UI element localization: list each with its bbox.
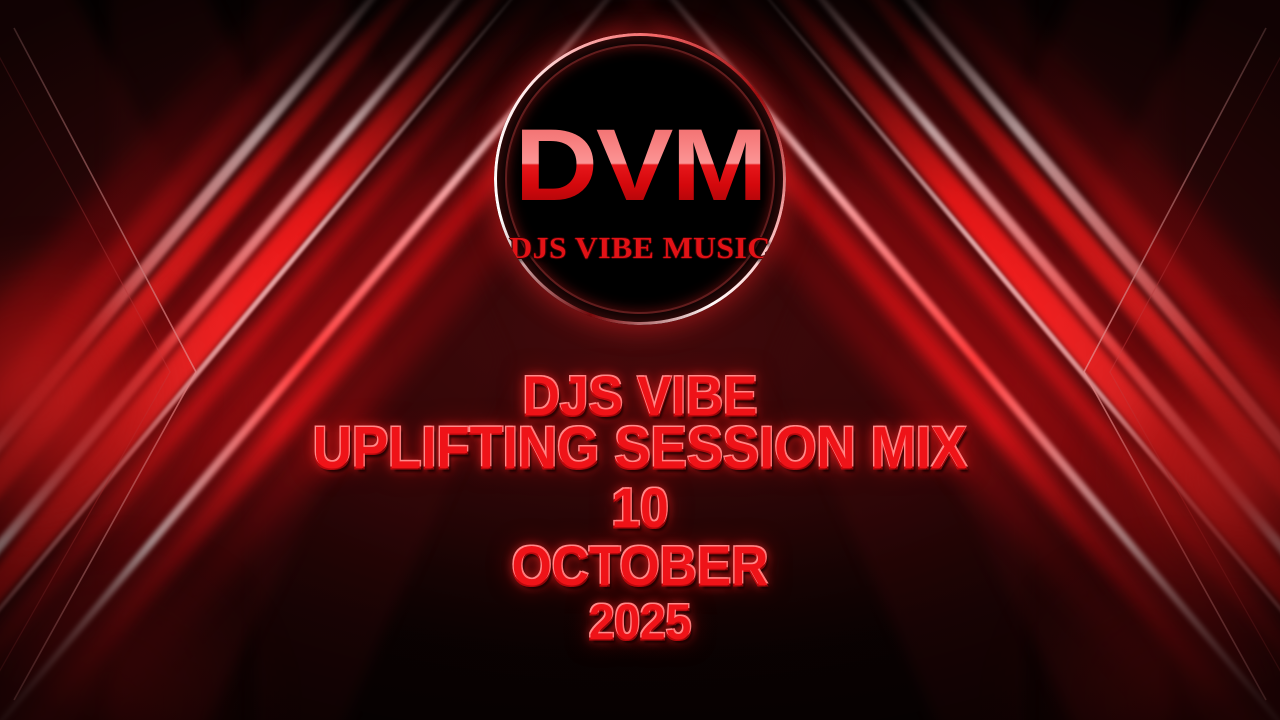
headline-year: 2025 [51,597,1229,647]
headline-month: OCTOBER [51,538,1229,594]
logo-monogram: DVM [494,119,786,213]
logo-badge: DVM DJS VIBE MUSIC [494,33,786,325]
headline-mix-title: UPLIFTING SESSION MIX [51,419,1229,478]
headline-day: 10 [51,480,1229,536]
poster-canvas: DVM DJS VIBE MUSIC DJS VIBE UPLIFTING SE… [0,0,1280,720]
headline-block: DJS VIBE UPLIFTING SESSION MIX 10 OCTOBE… [0,368,1280,647]
logo-brand-name: DJS VIBE MUSIC [494,230,786,266]
